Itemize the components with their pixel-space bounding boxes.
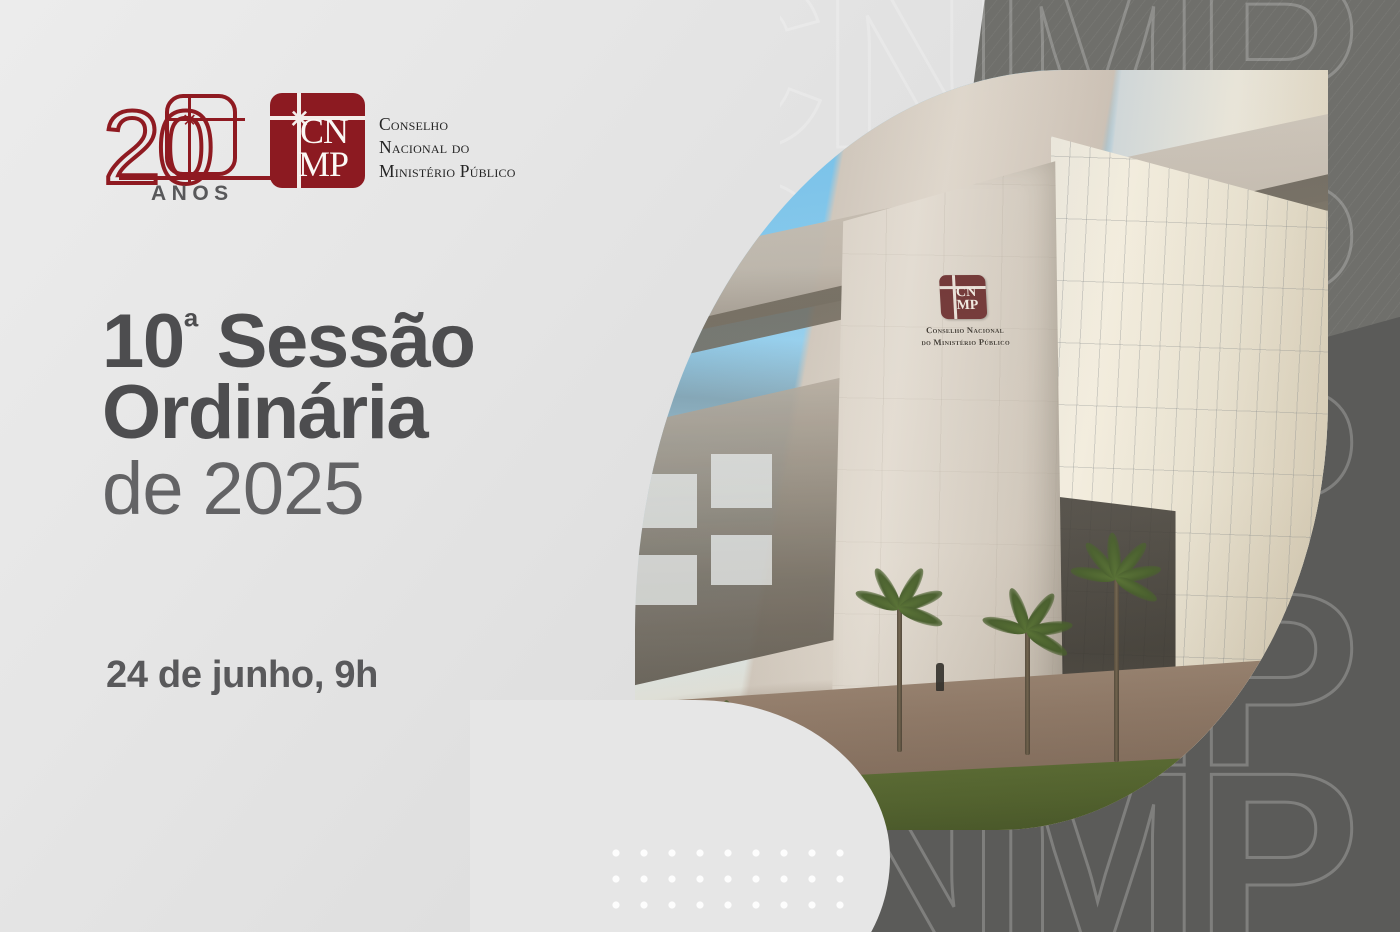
cnmp-logo-lockup: CN MP Conselho Nacional do Ministério Pú…: [270, 88, 516, 188]
session-datetime: 24 de junho, 9h: [106, 654, 378, 697]
title-line-1: 10ª Sessão: [102, 306, 622, 377]
zero-star-icon: [180, 110, 198, 128]
title-line-2: Ordinária: [102, 377, 622, 448]
zero-vertical-bar: [188, 94, 191, 184]
cnmp-organization-name: Conselho Nacional do Ministério Público: [379, 93, 516, 183]
twenty-years-numeral-zero-icon: [165, 94, 237, 176]
title-line-3: de 2025: [102, 453, 622, 526]
title-ordinal-marker: ª: [184, 306, 197, 350]
cnmp-name-line1: Conselho: [379, 114, 448, 134]
cnmp-name-line2: Nacional do: [379, 137, 470, 157]
twenty-years-logo: 20 ANOS: [103, 88, 248, 196]
cnmp-acronym-line2: MP: [298, 148, 348, 181]
page-title: 10ª Sessão Ordinária de 2025: [102, 306, 622, 525]
twenty-years-label: ANOS: [151, 182, 234, 206]
cnmp-logo-icon: CN MP: [270, 93, 365, 188]
dot-grid-decoration: [596, 836, 864, 910]
logo-lockup: 20 ANOS CN MP Conselho Nacional d: [103, 88, 516, 196]
cnmp-logo-acronym: CN MP: [300, 115, 348, 181]
twenty-years-underline: [119, 176, 271, 180]
cnmp-name-line3: Ministério Público: [379, 161, 516, 181]
zero-horizontal-bar: [165, 118, 245, 121]
poster-canvas: CNMP CNMP CNMP CNMP CNMP: [0, 0, 1400, 932]
